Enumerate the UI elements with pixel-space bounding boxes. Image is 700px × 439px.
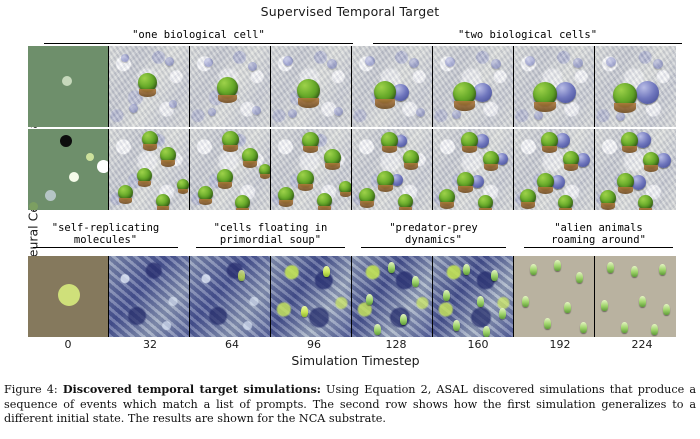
- sim-frame-r1c5: [433, 46, 514, 127]
- micro-blob: [252, 106, 261, 115]
- figure-caption: Figure 4: Discovered temporal target sim…: [4, 382, 696, 427]
- lime-pod: [564, 302, 571, 313]
- micro-blob: [283, 56, 293, 66]
- sim-frame-r1c7: [595, 46, 676, 127]
- sim-frame-r1c1: [109, 46, 190, 127]
- biological-cell-green: [242, 148, 258, 164]
- biological-cell-green: [374, 81, 396, 103]
- micro-blob: [606, 57, 616, 67]
- prompt-group-label-line2: dynamics": [361, 235, 506, 247]
- lime-pod: [388, 262, 395, 273]
- seed-blob-grey: [45, 190, 56, 201]
- sim-frame-r1c0: [28, 46, 109, 127]
- sim-frame-r1c3: [271, 46, 352, 127]
- prompt-group-alien-animals-roaming-around: "alien animals roaming around": [524, 223, 673, 248]
- sim-frame-r3c0: [28, 256, 109, 337]
- prompt-group-label-line1: "predator-prey: [361, 223, 506, 235]
- biological-cell-green: [398, 194, 413, 209]
- biological-cell-green: [198, 186, 213, 201]
- biological-cell-green: [177, 179, 189, 191]
- biological-cell-green: [317, 193, 332, 208]
- biological-cell-green: [217, 169, 233, 185]
- micro-blob: [208, 108, 216, 116]
- lime-pod: [443, 290, 450, 301]
- lime-pod: [639, 296, 646, 307]
- micro-blob: [409, 58, 419, 68]
- biological-cell-green: [638, 195, 653, 210]
- biological-cell-green: [137, 168, 152, 183]
- lime-pod: [530, 264, 537, 275]
- biological-cell-green: [403, 150, 419, 166]
- biological-cell-green: [156, 194, 170, 208]
- image-row-3: [28, 256, 676, 337]
- micro-blob: [445, 57, 455, 67]
- biological-cell-green: [439, 189, 455, 205]
- micro-blob: [288, 109, 297, 118]
- lime-pod: [463, 264, 470, 275]
- sim-frame-r3c5: [433, 256, 514, 337]
- biological-cell-green: [359, 188, 375, 204]
- micro-blob: [365, 56, 375, 66]
- prompt-group-label: "two biological cells": [458, 29, 597, 41]
- sim-frame-r2c7: [595, 129, 676, 210]
- biological-cell-green: [537, 173, 554, 190]
- prompt-group-two-biological-cells: "two biological cells": [373, 30, 682, 44]
- lime-pod: [659, 264, 666, 275]
- micro-blob: [653, 59, 663, 69]
- micro-blob: [416, 108, 425, 117]
- sim-frame-r1c4: [352, 46, 433, 127]
- prompt-group-label-line2: roaming around": [524, 235, 673, 247]
- x-tick-160: 160: [458, 338, 498, 351]
- biological-cell-green: [613, 83, 637, 107]
- seed-blob: [62, 76, 72, 86]
- lime-pod: [621, 322, 628, 333]
- lime-pod: [499, 308, 506, 319]
- image-row-1: [28, 46, 676, 127]
- micro-blob: [129, 104, 138, 113]
- sim-frame-r1c2: [190, 46, 271, 127]
- sim-frame-r2c0: [28, 129, 109, 210]
- prompt-group-predator-prey-dynamics: "predator-prey dynamics": [361, 223, 506, 248]
- biological-cell-green: [297, 79, 320, 102]
- lime-pod: [651, 324, 658, 335]
- lime-pod: [453, 320, 460, 331]
- biological-cell-green: [520, 189, 536, 205]
- biological-cell-green: [222, 131, 239, 148]
- sim-frame-r3c3: [271, 256, 352, 337]
- biological-cell-green: [297, 170, 314, 187]
- biological-cell-green: [541, 132, 558, 149]
- biological-cell-green: [324, 149, 341, 166]
- lime-pod: [491, 270, 498, 281]
- micro-blob: [616, 112, 625, 121]
- caption-figure-number: Figure 4:: [4, 383, 58, 396]
- prompt-group-label-line1: "self-replicating: [33, 223, 178, 235]
- biological-cell-green: [142, 131, 158, 147]
- sim-frame-r2c1: [109, 129, 190, 210]
- prompt-group-label-line1: "cells floating in: [196, 223, 345, 235]
- biological-cell-green: [118, 185, 133, 200]
- lime-pod: [663, 304, 670, 315]
- x-tick-96: 96: [294, 338, 334, 351]
- micro-blob: [534, 111, 543, 120]
- x-tick-64: 64: [212, 338, 252, 351]
- figure-title: Supervised Temporal Target: [0, 4, 700, 19]
- lime-pod: [238, 270, 245, 281]
- lime-pod: [544, 318, 551, 329]
- sim-frame-r2c4: [352, 129, 433, 210]
- lime-pod: [607, 262, 614, 273]
- seed-blob-lime: [58, 284, 80, 306]
- biological-cell-green: [235, 195, 250, 210]
- biological-cell-green: [377, 171, 394, 188]
- seed-blob-lime: [86, 153, 94, 161]
- micro-blob: [334, 107, 343, 116]
- x-tick-32: 32: [130, 338, 170, 351]
- prompt-group-label-line2: primordial soup": [196, 235, 345, 247]
- biological-cell-green: [217, 77, 238, 98]
- micro-blob: [525, 56, 535, 66]
- lime-pod: [483, 326, 490, 337]
- lime-pod: [301, 306, 308, 317]
- micro-blob: [169, 100, 177, 108]
- seed-blob-white: [69, 172, 79, 182]
- prompt-group-label: "one biological cell": [132, 29, 265, 41]
- lime-pod: [366, 294, 373, 305]
- biological-cell-green: [160, 147, 176, 163]
- lime-pod: [601, 300, 608, 311]
- biological-cell-green: [617, 173, 634, 190]
- lime-pod: [554, 260, 561, 271]
- seed-blob-white: [97, 160, 109, 173]
- micro-blob: [491, 59, 501, 69]
- lime-pod: [323, 266, 330, 277]
- x-tick-0: 0: [48, 338, 88, 351]
- biological-cell-green: [621, 132, 638, 149]
- biological-cell-green: [558, 195, 573, 210]
- sim-frame-r2c5: [433, 129, 514, 210]
- micro-blob: [204, 58, 213, 67]
- biological-cell-green: [278, 187, 294, 203]
- caption-bold-title: Discovered temporal target simulations:: [63, 382, 321, 396]
- lime-pod: [412, 276, 419, 287]
- biological-cell-green: [643, 152, 659, 168]
- x-tick-224: 224: [622, 338, 662, 351]
- prompt-group-one-biological-cell: "one biological cell": [44, 30, 353, 44]
- biological-cell-green: [483, 151, 499, 167]
- prompt-group-label-line2: molecules": [33, 235, 178, 247]
- lime-pod: [477, 296, 484, 307]
- prompt-group-cells-floating-primordial-soup: "cells floating in primordial soup": [196, 223, 345, 248]
- sim-frame-r3c1: [109, 256, 190, 337]
- sim-frame-r3c6: [514, 256, 595, 337]
- sim-frame-r3c2: [190, 256, 271, 337]
- sim-frame-r2c3: [271, 129, 352, 210]
- biological-cell-green: [339, 181, 352, 194]
- biological-cell-green: [461, 132, 478, 149]
- image-row-2: [28, 129, 676, 210]
- biological-cell-blue: [555, 82, 576, 103]
- x-axis-label: Simulation Timestep: [28, 353, 683, 368]
- lime-pod: [400, 314, 407, 325]
- lime-pod: [522, 296, 529, 307]
- micro-blob: [248, 62, 257, 71]
- biological-cell-green: [478, 195, 493, 210]
- lime-pod: [580, 322, 587, 333]
- micro-blob: [121, 54, 129, 62]
- biological-cell-blue: [636, 81, 659, 104]
- micro-blob: [452, 110, 461, 119]
- biological-cell-green: [563, 151, 579, 167]
- sim-frame-r3c4: [352, 256, 433, 337]
- sim-frame-r2c6: [514, 129, 595, 210]
- biological-cell-green: [302, 132, 319, 149]
- sim-frame-r3c7: [595, 256, 676, 337]
- lime-pod: [576, 272, 583, 283]
- micro-blob: [327, 59, 337, 69]
- x-tick-192: 192: [540, 338, 580, 351]
- sim-frame-r1c6: [514, 46, 595, 127]
- biological-cell-green: [533, 82, 557, 106]
- biological-cell-green: [381, 132, 398, 149]
- biological-cell-green: [453, 82, 476, 105]
- x-tick-128: 128: [376, 338, 416, 351]
- lime-pod: [374, 324, 381, 335]
- micro-blob: [165, 57, 174, 66]
- biological-cell-green: [138, 73, 157, 92]
- seed-blob-dark: [60, 135, 72, 147]
- sim-frame-r2c2: [190, 129, 271, 210]
- prompt-group-self-replicating-molecules: "self-replicating molecules": [33, 223, 178, 248]
- biological-cell-green: [259, 164, 271, 176]
- biological-cell-green: [457, 172, 474, 189]
- biological-cell-green: [600, 190, 616, 206]
- seed-blob-green: [29, 202, 38, 210]
- lime-pod: [631, 266, 638, 277]
- micro-blob: [573, 58, 583, 68]
- prompt-group-label-line1: "alien animals: [524, 223, 673, 235]
